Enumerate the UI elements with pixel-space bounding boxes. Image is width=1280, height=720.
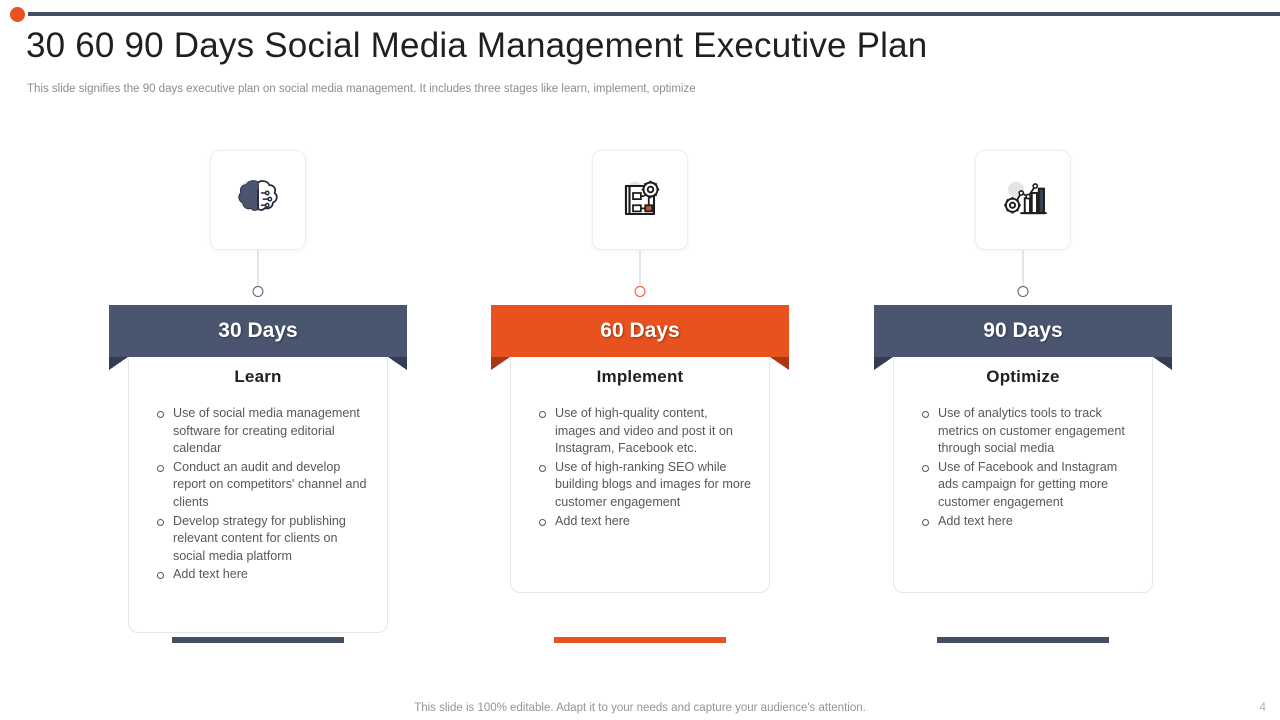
bar-chart-gear-icon [995,172,1051,228]
bullet-list-60-days: Use of high-quality content, images and … [525,405,755,530]
list-item: Conduct an audit and develop report on c… [153,459,369,512]
stage-heading-implement: Implement [525,367,755,387]
content-card-60-days: Implement Use of high-quality content, i… [510,340,770,593]
flowchart-gear-icon [612,172,668,228]
list-item: Use of Facebook and Instagram ads campai… [918,459,1134,512]
content-card-30-days: Learn Use of social media management sof… [128,340,388,633]
connector-dot-60-days [635,286,646,297]
list-item: Use of high-ranking SEO while building b… [535,459,751,512]
ribbon-label-30-days: 30 Days [218,319,297,343]
list-item: Add text here [535,513,751,531]
connector-line-90-days [1023,250,1024,286]
list-item: Add text here [153,566,369,584]
top-accent-dot-icon [10,7,25,22]
ribbon-fold-left-icon [109,357,128,370]
connector-line-60-days [640,250,641,286]
ribbon-label-90-days: 90 Days [983,319,1062,343]
brain-circuit-icon [230,172,286,228]
page-number: 4 [1259,700,1266,714]
ribbon-fold-right-icon [388,357,407,370]
stage-ribbon-30-days: 30 Days [109,305,407,357]
page-subtitle: This slide signifies the 90 days executi… [27,83,1027,95]
bullet-list-30-days: Use of social media management software … [143,405,373,584]
stage-heading-optimize: Optimize [908,367,1138,387]
bottom-accent-bar-60-days [554,637,726,643]
ribbon-fold-right-icon [1153,357,1172,370]
list-item: Use of social media management software … [153,405,369,458]
page-title: 30 60 90 Days Social Media Management Ex… [26,26,1256,66]
connector-line-30-days [258,250,259,286]
icon-tile-30-days [210,150,306,250]
icon-tile-90-days [975,150,1071,250]
icon-tile-60-days [592,150,688,250]
list-item: Use of high-quality content, images and … [535,405,751,458]
slide-canvas: 30 60 90 Days Social Media Management Ex… [0,0,1280,720]
content-card-90-days: Optimize Use of analytics tools to track… [893,340,1153,593]
list-item: Use of analytics tools to track metrics … [918,405,1134,458]
ribbon-fold-left-icon [874,357,893,370]
footer-note: This slide is 100% editable. Adapt it to… [0,702,1280,714]
bottom-accent-bar-90-days [937,637,1109,643]
bullet-list-90-days: Use of analytics tools to track metrics … [908,405,1138,530]
list-item: Add text here [918,513,1134,531]
top-rule-divider [28,12,1280,16]
stage-ribbon-90-days: 90 Days [874,305,1172,357]
ribbon-fold-right-icon [770,357,789,370]
list-item: Develop strategy for publishing relevant… [153,513,369,566]
ribbon-label-60-days: 60 Days [600,319,679,343]
stage-heading-learn: Learn [143,367,373,387]
ribbon-fold-left-icon [491,357,510,370]
connector-dot-90-days [1018,286,1029,297]
stage-ribbon-60-days: 60 Days [491,305,789,357]
connector-dot-30-days [253,286,264,297]
bottom-accent-bar-30-days [172,637,344,643]
